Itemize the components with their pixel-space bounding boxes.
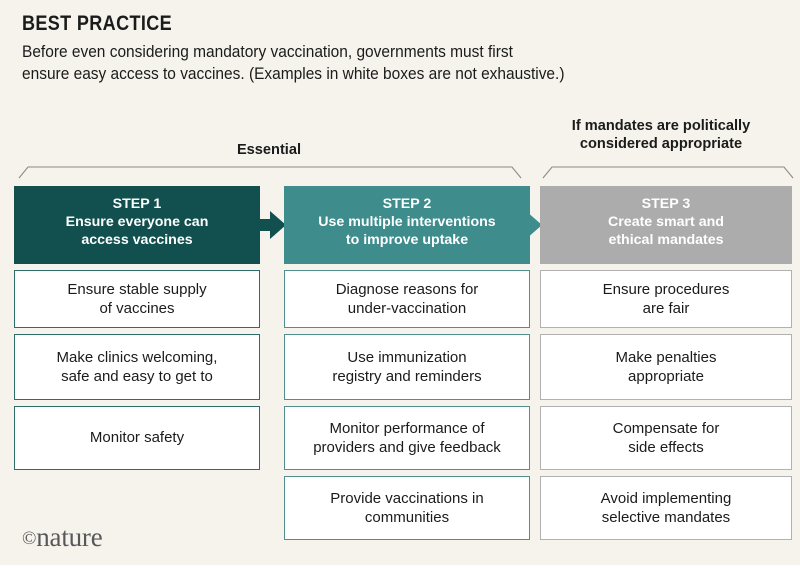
item-line-1: Make penalties	[616, 348, 717, 367]
step-title-1-line-1: Ensure everyone can	[20, 213, 254, 231]
step-title-1-line-2: access vaccines	[20, 231, 254, 249]
item-box: Ensure procedures are fair	[540, 270, 792, 328]
item-box: Make clinics welcoming, safe and easy to…	[14, 334, 260, 400]
item-line-2: of vaccines	[67, 299, 206, 318]
item-box: Use immunization registry and reminders	[284, 334, 530, 400]
step-number-1: STEP 1	[20, 195, 254, 213]
item-line-1: Ensure stable supply	[67, 280, 206, 299]
item-line-2: communities	[330, 508, 483, 527]
step-header-3: STEP 3 Create smart and ethical mandates	[540, 186, 792, 264]
item-line-1: Make clinics welcoming,	[57, 348, 218, 367]
item-line-1: Diagnose reasons for	[336, 280, 479, 299]
step-title-3-line-2: ethical mandates	[546, 231, 786, 249]
nature-credit: ©nature	[22, 522, 103, 553]
item-line-2: providers and give feedback	[313, 438, 501, 457]
step-header-2: STEP 2 Use multiple interventions to imp…	[284, 186, 530, 264]
item-box: Make penalties appropriate	[540, 334, 792, 400]
copyright-icon: ©	[22, 528, 36, 549]
item-box: Monitor safety	[14, 406, 260, 470]
step-title-3-line-1: Create smart and	[546, 213, 786, 231]
step-title-2-line-1: Use multiple interventions	[290, 213, 524, 231]
group-label-mandates-line-1: If mandates are politically	[528, 118, 794, 136]
item-line-1: Use immunization	[332, 348, 481, 367]
step-number-2: STEP 2	[290, 195, 524, 213]
item-line-2: are fair	[603, 299, 730, 318]
item-line-1: Avoid implementing	[601, 489, 732, 508]
group-label-essential: Essential	[18, 142, 520, 160]
item-line-2: registry and reminders	[332, 367, 481, 386]
step-number-3: STEP 3	[546, 195, 786, 213]
nature-wordmark: nature	[36, 522, 102, 552]
column-step-2: STEP 2 Use multiple interventions to imp…	[284, 186, 530, 540]
step-header-1: STEP 1 Ensure everyone can access vaccin…	[14, 186, 260, 264]
item-box: Avoid implementing selective mandates	[540, 476, 792, 540]
item-line-1: Ensure procedures	[603, 280, 730, 299]
infographic-root: BEST PRACTICE Before even considering ma…	[0, 0, 800, 571]
item-box: Ensure stable supply of vaccines	[14, 270, 260, 328]
item-line-2: under-vaccination	[336, 299, 479, 318]
item-line-1: Compensate for	[613, 419, 720, 438]
bottom-strip	[0, 565, 800, 571]
item-line-2: safe and easy to get to	[57, 367, 218, 386]
item-line-2: selective mandates	[601, 508, 732, 527]
page-kicker: BEST PRACTICE	[22, 12, 676, 36]
column-step-3: STEP 3 Create smart and ethical mandates…	[540, 186, 792, 540]
item-box: Provide vaccinations in communities	[284, 476, 530, 540]
page-subtitle: Before even considering mandatory vaccin…	[22, 41, 773, 86]
group-label-mandates: If mandates are politically considered a…	[528, 118, 794, 154]
subtitle-line-2: ensure easy access to vaccines. (Example…	[22, 63, 773, 85]
item-line-2: appropriate	[616, 367, 717, 386]
header-block: BEST PRACTICE Before even considering ma…	[22, 12, 782, 85]
item-line-1: Monitor safety	[90, 428, 184, 447]
item-box: Compensate for side effects	[540, 406, 792, 470]
step-title-2-line-2: to improve uptake	[290, 231, 524, 249]
column-step-1: STEP 1 Ensure everyone can access vaccin…	[14, 186, 260, 470]
group-label-mandates-line-2: considered appropriate	[528, 136, 794, 154]
bracket-mandates	[542, 166, 794, 179]
subtitle-line-1: Before even considering mandatory vaccin…	[22, 41, 773, 63]
item-line-1: Monitor performance of	[313, 419, 501, 438]
item-box: Monitor performance of providers and giv…	[284, 406, 530, 470]
item-box: Diagnose reasons for under-vaccination	[284, 270, 530, 328]
bracket-essential	[18, 166, 522, 179]
item-line-2: side effects	[613, 438, 720, 457]
item-line-1: Provide vaccinations in	[330, 489, 483, 508]
